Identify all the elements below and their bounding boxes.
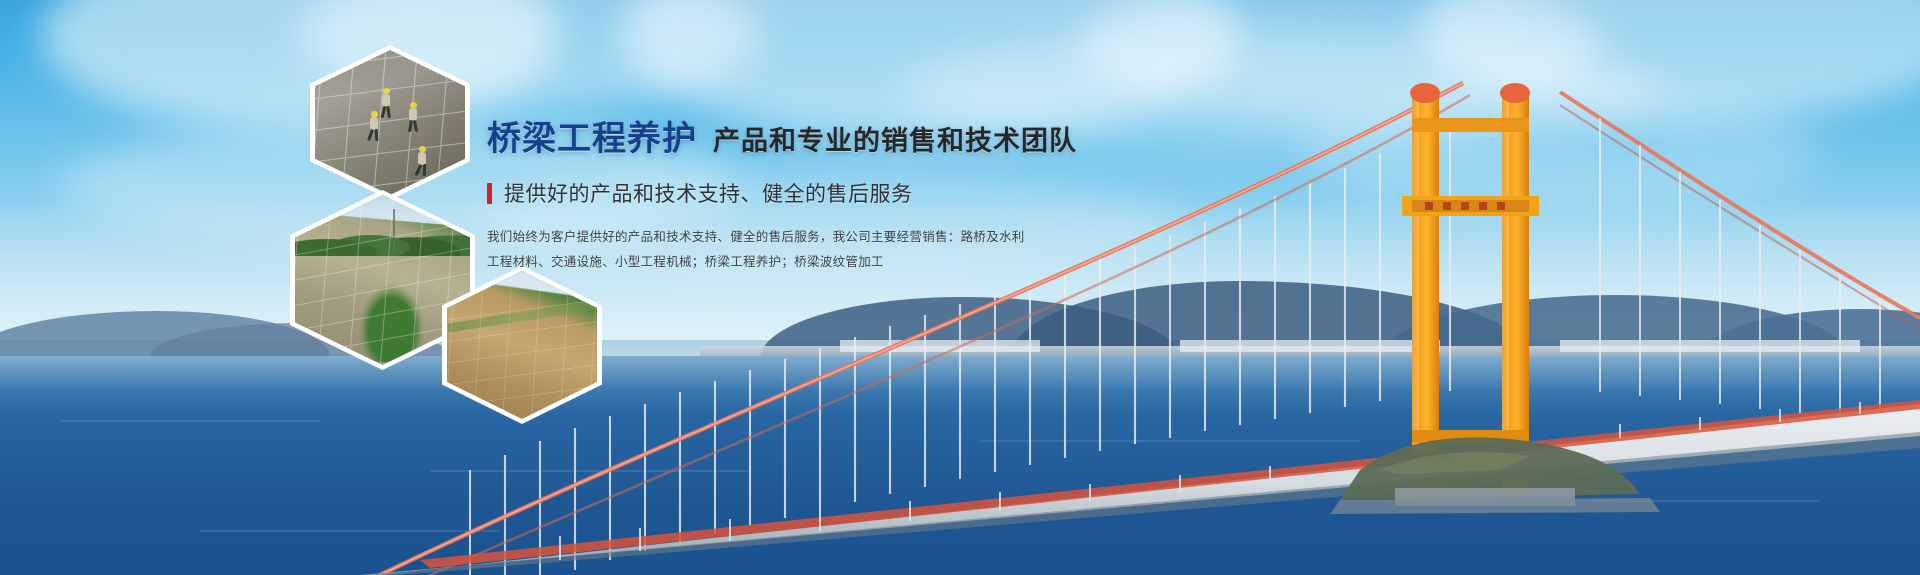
description: 我们始终为客户提供好的产品和技术支持、健全的售后服务，我公司主要经营销售：路桥及… [487,228,1107,273]
coastal-town [1560,340,1860,352]
coastal-town [1180,340,1440,352]
subtitle: 提供好的产品和技术支持、健全的售后服务 [504,178,913,208]
headline: 桥梁工程养护 产品和专业的销售和技术团队 [487,122,1107,156]
coastal-town [840,340,1040,352]
description-line: 我们始终为客户提供好的产品和技术支持、健全的售后服务，我公司主要经营销售：路桥及… [487,228,1107,247]
cloud-shape [1300,90,1820,210]
cloud-shape [620,0,1240,140]
wire-mesh-overlay-icon [447,271,597,419]
hero-banner: 桥梁工程养护 产品和专业的销售和技术团队 提供好的产品和技术支持、健全的售后服务… [0,0,1920,575]
headline-main: 桥梁工程养护 [487,122,697,156]
headline-sub: 产品和专业的销售和技术团队 [713,128,1077,155]
sea-sheen [0,356,1920,416]
subtitle-row: 提供好的产品和技术支持、健全的售后服务 [487,178,1107,208]
banner-copy: 桥梁工程养护 产品和专业的销售和技术团队 提供好的产品和技术支持、健全的售后服务… [487,122,1107,279]
cloud-shape [1420,0,1920,120]
wire-mesh-overlay-icon [315,50,465,195]
accent-bar-icon [487,183,492,204]
cloud-shape [1080,0,1600,120]
description-line: 工程材料、交通设施、小型工程机械；桥梁工程养护；桥梁波纹管加工 [487,253,1107,272]
hex-photo-rock-slope-mesh-installation[interactable] [310,45,470,200]
